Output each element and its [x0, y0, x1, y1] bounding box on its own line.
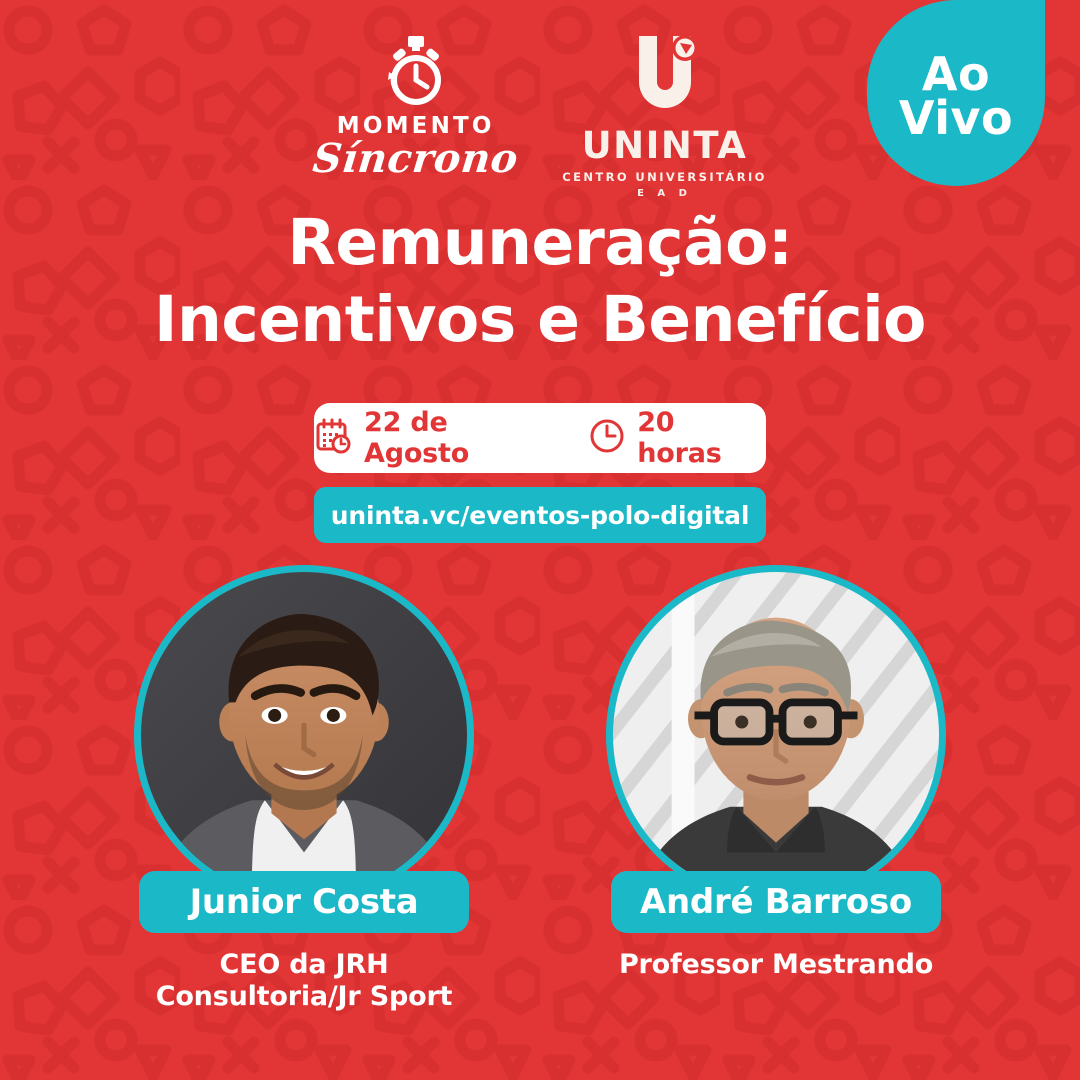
calendar-icon: [314, 417, 352, 459]
sincrono-script: Síncrono: [311, 135, 521, 182]
speaker-role-line2: Consultoria/Jr Sport: [156, 981, 453, 1013]
live-badge-line2: Vivo: [899, 96, 1013, 140]
uninta-subtitle: CENTRO UNIVERSITÁRIO: [562, 170, 767, 184]
speaker-role: CEO da JRH Consultoria/Jr Sport: [156, 949, 453, 1014]
stopwatch-icon: [380, 34, 452, 112]
event-title: Remuneração: Incentivos e Benefício: [0, 205, 1080, 359]
title-line-2: Incentivos e Benefício: [0, 282, 1080, 359]
live-badge-line1: Ao: [922, 52, 990, 96]
speaker-name-plate: Junior Costa: [139, 871, 469, 933]
speaker-name-plate: André Barroso: [611, 871, 941, 933]
speaker-role-line1: CEO da JRH: [156, 949, 453, 981]
speaker-name: Junior Costa: [190, 882, 419, 922]
speaker-role-line1: Professor Mestrando: [619, 949, 933, 981]
date-time-bar: 22 de Agosto 20 horas: [314, 403, 766, 473]
momento-sincrono-logo: MOMENTO Síncrono: [313, 34, 518, 182]
time-item: 20 horas: [589, 407, 766, 469]
speaker-name: André Barroso: [640, 882, 912, 922]
speaker-card: Junior Costa CEO da JRH Consultoria/Jr S…: [129, 565, 479, 1014]
clock-icon: [589, 418, 625, 458]
speaker-photo-ring: [606, 565, 946, 905]
title-line-1: Remuneração:: [0, 205, 1080, 282]
speaker-photo: [141, 572, 467, 898]
speakers-row: Junior Costa CEO da JRH Consultoria/Jr S…: [0, 565, 1080, 1014]
speaker-role: Professor Mestrando: [619, 949, 933, 981]
event-url-bar[interactable]: uninta.vc/eventos-polo-digital: [314, 487, 766, 543]
live-badge: Ao Vivo: [867, 0, 1045, 186]
uninta-ead: E A D: [637, 188, 692, 199]
uninta-logo: UNINTA CENTRO UNIVERSITÁRIO E A D: [562, 34, 767, 199]
date-text: 22 de Agosto: [364, 407, 559, 469]
event-poster: Ao Vivo MOMENTO Síncrono: [0, 0, 1080, 1080]
event-url-text: uninta.vc/eventos-polo-digital: [331, 501, 749, 530]
speaker-card: André Barroso Professor Mestrando: [601, 565, 951, 1014]
uninta-u-mark-icon: [617, 34, 713, 122]
speaker-photo: [613, 572, 939, 898]
time-text: 20 horas: [637, 407, 766, 469]
uninta-word: UNINTA: [582, 124, 748, 167]
speaker-photo-ring: [134, 565, 474, 905]
date-item: 22 de Agosto: [314, 407, 559, 469]
